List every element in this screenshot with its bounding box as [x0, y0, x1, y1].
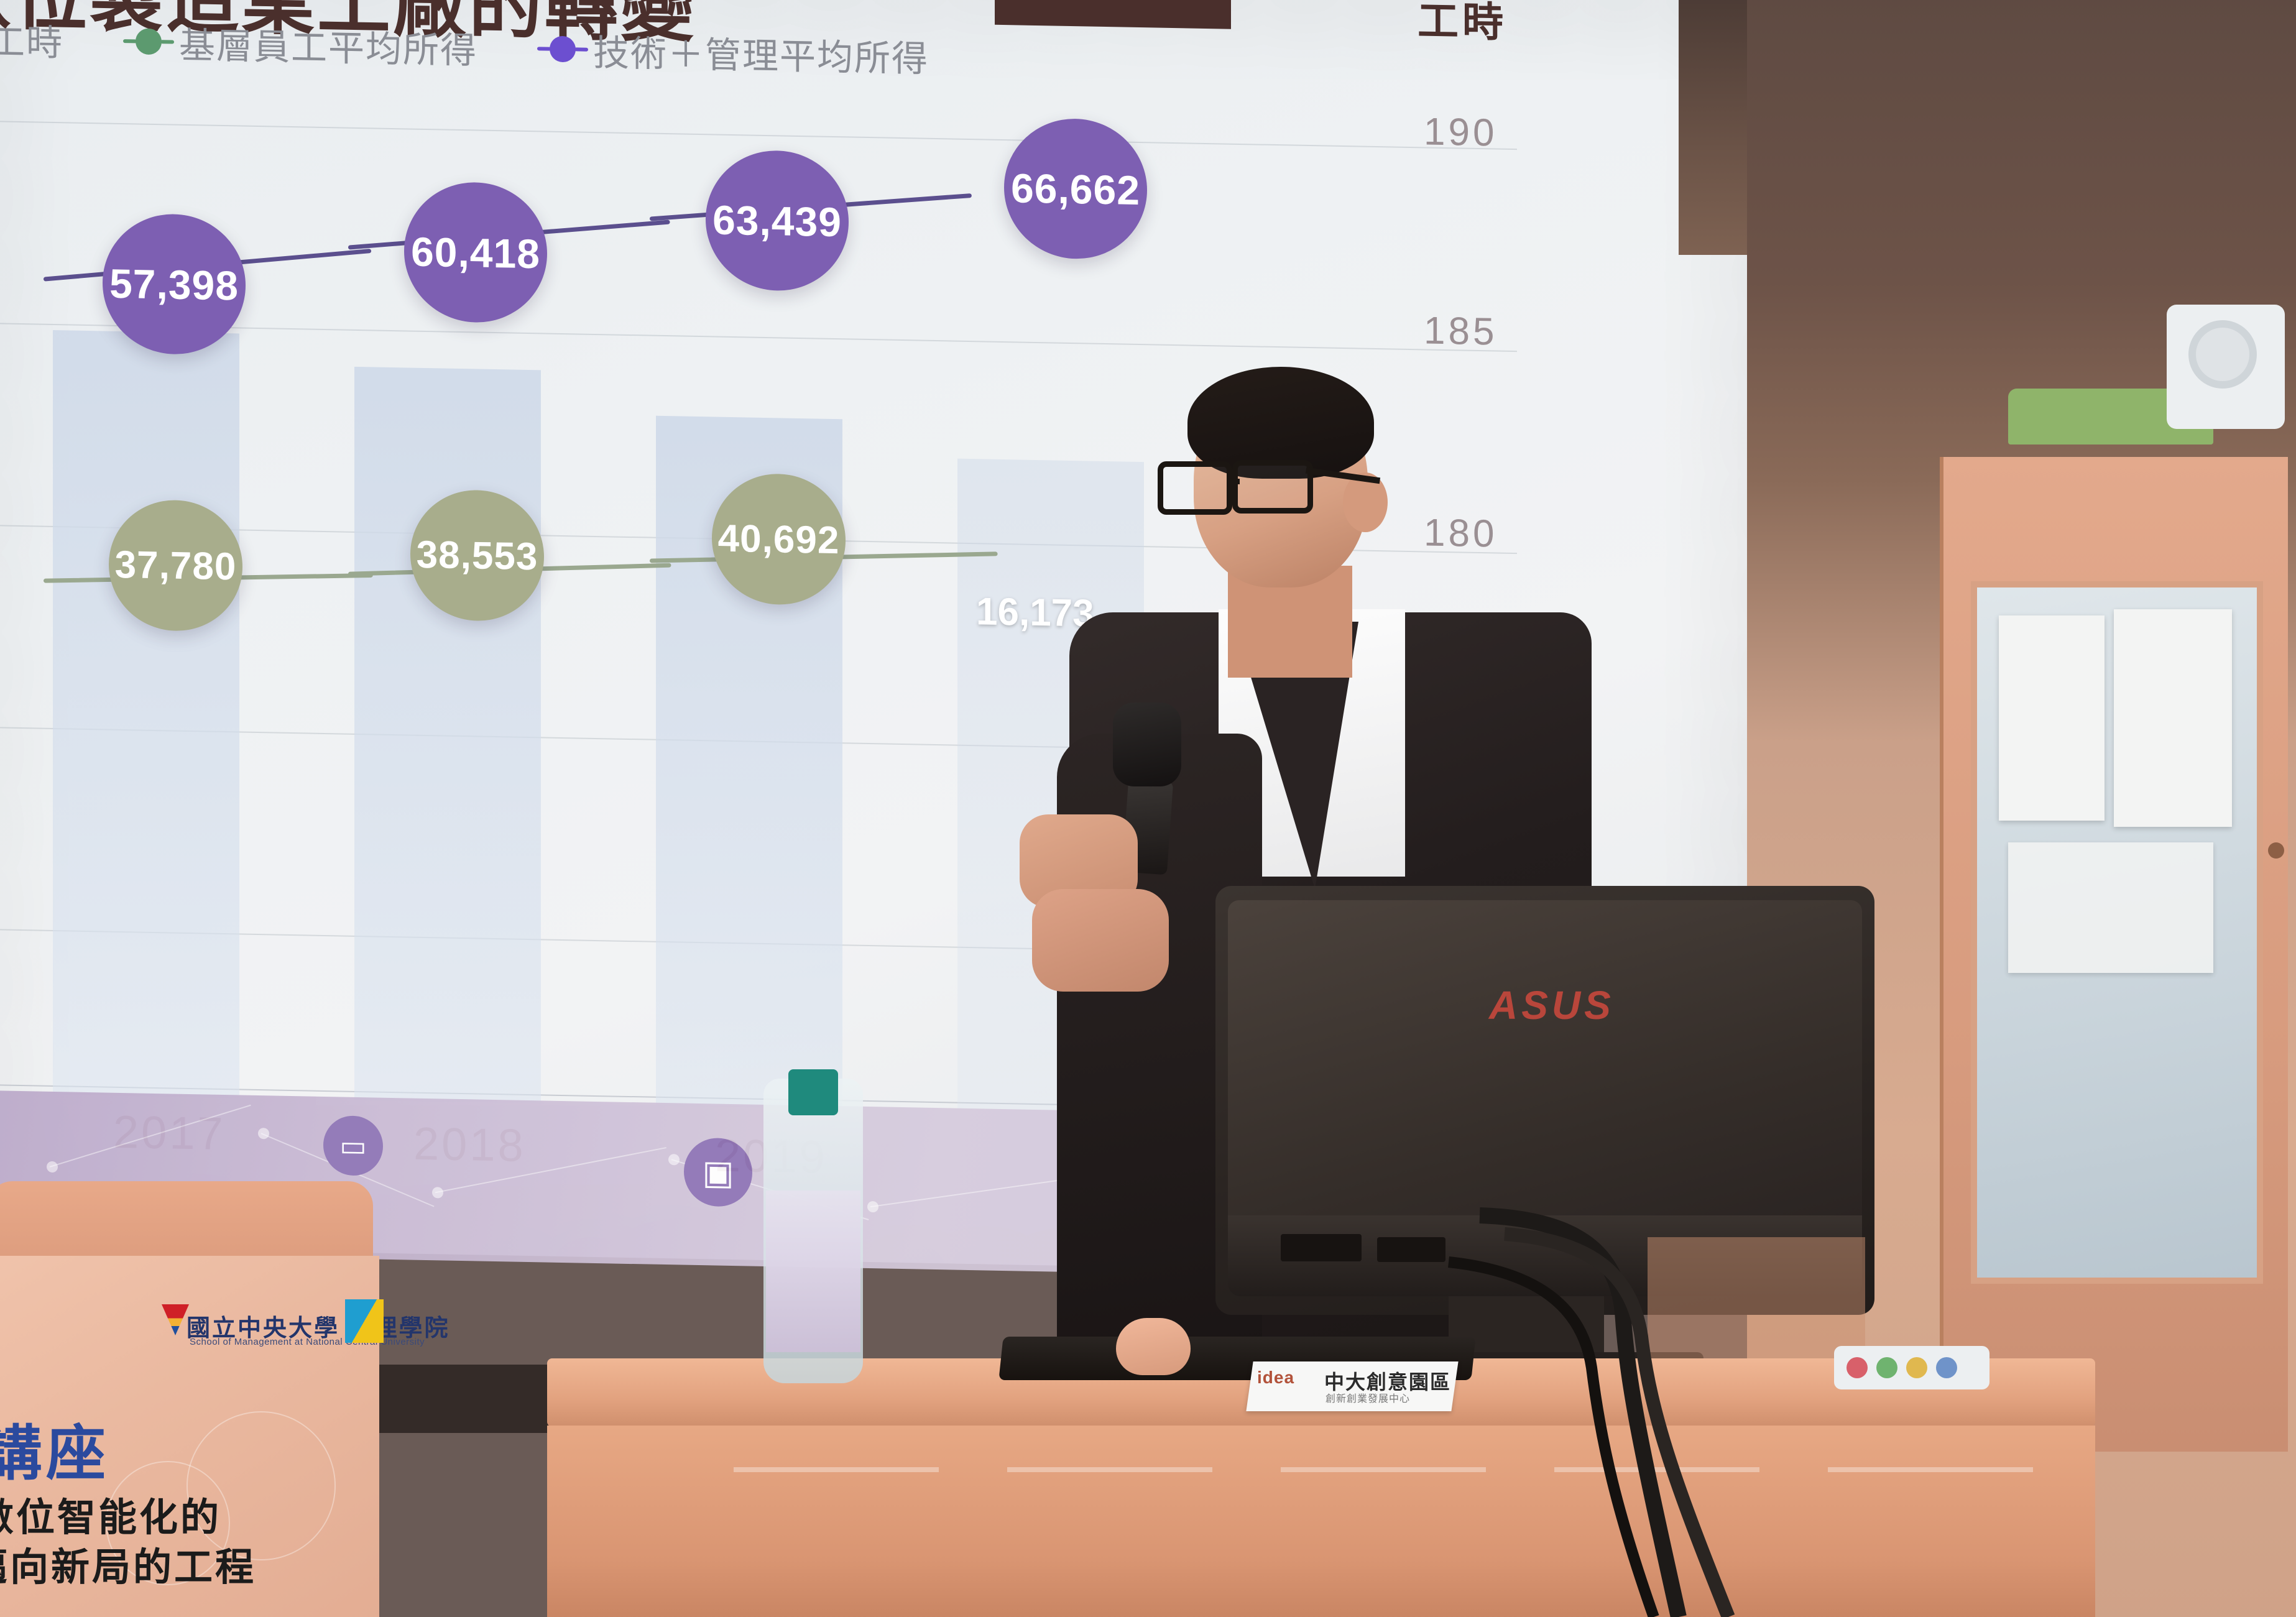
gridline	[0, 119, 1517, 150]
aacsb-logo-icon	[345, 1299, 384, 1343]
legend-dot-purple-icon	[550, 36, 576, 63]
desk-sign-sub-label: 創新創業發展中心	[1326, 1390, 1410, 1405]
network-node	[867, 1201, 878, 1212]
network-node	[432, 1187, 443, 1198]
desk-sign-idea-label: idea	[1257, 1368, 1294, 1388]
bar-2017	[53, 330, 239, 1098]
banner-org-name-en: School of Management at National Central…	[190, 1337, 425, 1347]
network-node	[258, 1128, 269, 1139]
bottle-label	[766, 1191, 860, 1352]
cabinet-paper	[2114, 609, 2232, 827]
monitor-port	[1377, 1237, 1445, 1262]
cabinet-paper	[1999, 615, 2105, 821]
desk-seam	[1554, 1467, 1759, 1472]
legend-dot-green-icon	[136, 28, 162, 55]
desk-seam	[1281, 1467, 1486, 1472]
banner-heading: 講座	[0, 1405, 109, 1491]
monitor-brand-label: ASUS	[1489, 982, 1615, 1028]
desk-seam	[1828, 1467, 2033, 1472]
cabinet-knob[interactable]	[2268, 842, 2284, 859]
microphone-head-icon[interactable]	[1113, 703, 1181, 786]
banner-line2: 數位智能化的	[0, 1486, 221, 1542]
cabinet-paper	[2008, 842, 2213, 973]
eyeglasses-right-lens-icon	[1232, 460, 1313, 514]
legend-dash-purple2-icon	[574, 47, 588, 51]
legend-item-frontline-income: 基層員工平均所得	[123, 15, 477, 73]
legend-label-frontline-income: 基層員工平均所得	[179, 16, 477, 74]
network-node	[668, 1154, 680, 1165]
bar-value-label: 16,173	[976, 589, 1094, 635]
data-bubble-purple-2020[interactable]: 66,662	[1004, 117, 1147, 260]
legend-dash-green2-icon	[160, 40, 174, 44]
computer-mouse[interactable]	[1116, 1318, 1191, 1375]
chart-legend: 平均工時 基層員工平均所得 技術＋管理平均所得	[0, 11, 929, 82]
data-bubble-purple-2019[interactable]: 63,439	[706, 149, 849, 292]
legend-item-tech-mgmt-income: 技術＋管理平均所得	[537, 22, 929, 82]
bar-2018	[354, 367, 541, 1103]
remote-button-blue[interactable]	[1936, 1357, 1957, 1378]
eyeglasses-left-lens-icon	[1158, 461, 1232, 515]
legend-label-tech-mgmt-income: 技術＋管理平均所得	[593, 24, 929, 82]
remote-button-green[interactable]	[1876, 1357, 1897, 1378]
eyeglasses-bridge-icon	[1230, 479, 1240, 484]
monitor-port	[1281, 1234, 1362, 1261]
remote-button-yellow[interactable]	[1906, 1357, 1927, 1378]
axis-tick-185: 185	[1424, 308, 1497, 354]
remote-control[interactable]	[1834, 1346, 1989, 1389]
speaker-hand-lower	[1032, 889, 1169, 992]
desk-front-panel	[547, 1426, 2095, 1617]
cpu-chip-icon: ▣	[684, 1138, 752, 1207]
camera-lens-icon	[2188, 320, 2257, 389]
axis-title-right: 工時	[1418, 0, 1507, 49]
banner-line3: 邁向新局的工程	[0, 1536, 256, 1592]
bottle-cap	[788, 1069, 838, 1115]
smartphone-icon: ▭	[323, 1115, 383, 1176]
legend-label-hours: 平均工時	[0, 11, 63, 66]
legend-dash-green-icon	[123, 39, 137, 43]
presentation-photo: 數位製造業工廠的轉變 平均工時 基層員工平均所得 技	[0, 0, 2296, 1617]
network-line	[435, 1147, 666, 1193]
desk-seam	[734, 1467, 939, 1472]
data-bubble-purple-2018[interactable]: 60,418	[404, 181, 547, 323]
title-occlusion-block	[995, 0, 1231, 29]
axis-tick-180: 180	[1424, 510, 1497, 556]
network-line	[50, 1105, 251, 1168]
legend-dash-purple-icon	[537, 47, 551, 50]
desk-seam	[1007, 1467, 1212, 1472]
legend-item-hours: 平均工時	[0, 11, 63, 66]
desk-side-panel	[1648, 1237, 1865, 1361]
remote-button-red[interactable]	[1846, 1357, 1868, 1378]
network-node	[47, 1161, 58, 1172]
